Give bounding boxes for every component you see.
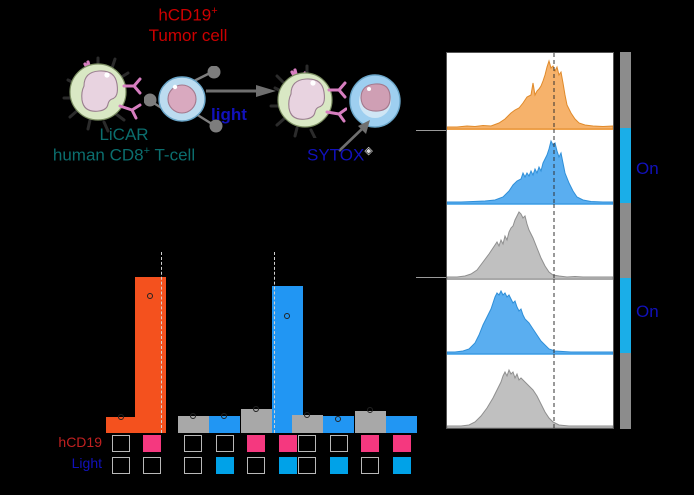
tumor-label-line1: hCD19 (158, 6, 211, 25)
connector-line-bottom (416, 277, 448, 278)
checkbox-light-2-4[interactable] (279, 457, 297, 474)
checkbox-light-1-1[interactable] (112, 457, 130, 474)
bar-3-3 (355, 411, 386, 433)
bar-chart (0, 248, 420, 433)
sytox-label: SYTOX◈ (307, 146, 373, 164)
checkbox-hcd19-3-1[interactable] (298, 435, 316, 452)
histogram-blue-4 (447, 279, 613, 354)
condition-matrix (0, 432, 420, 484)
on-label-1: On (636, 160, 659, 177)
on-segment-1 (620, 128, 631, 203)
checkbox-hcd19-2-1[interactable] (184, 435, 202, 452)
checkbox-light-3-4[interactable] (393, 457, 411, 474)
histogram-blue-2 (447, 129, 613, 204)
bar-2-4 (272, 286, 303, 433)
bar-2-4-marker (284, 313, 290, 319)
histogram-orange-1 (447, 53, 613, 129)
bar-3-4 (386, 416, 417, 433)
t-cell-after-icon (263, 58, 347, 138)
tumor-cell-label: hCD19+ Tumor cell (118, 6, 258, 44)
group-divider-1 (161, 252, 162, 433)
checkbox-hcd19-2-4[interactable] (279, 435, 297, 452)
bar-2-2-marker (221, 413, 227, 419)
bar-2-3 (241, 409, 272, 433)
t-cell-icon (54, 48, 154, 136)
bar-1-1-marker (118, 414, 124, 420)
bar-2-3-marker (253, 406, 259, 412)
group-divider-2 (274, 252, 275, 433)
figure-root: hCD19+ Tumor cell LiCAR human CD8+ T-cel… (0, 0, 694, 495)
bar-2-1-marker (190, 413, 196, 419)
licar-tcell-label: LiCAR human CD8+ T-cell (24, 126, 224, 164)
checkbox-hcd19-1-2[interactable] (143, 435, 161, 452)
bar-3-1-marker (304, 412, 310, 418)
checkbox-hcd19-3-2[interactable] (330, 435, 348, 452)
licar-label-line2b: T-cell (150, 146, 195, 165)
checkbox-light-3-2[interactable] (330, 457, 348, 474)
licar-label-line2a: human CD8 (53, 146, 144, 165)
on-label-2: On (636, 303, 659, 320)
flow-cytometry-panel (446, 52, 614, 429)
licar-label-line1: LiCAR (99, 125, 148, 144)
checkbox-light-2-3[interactable] (247, 457, 265, 474)
tumor-label-line2: Tumor cell (118, 27, 258, 44)
checkbox-light-2-2[interactable] (216, 457, 234, 474)
checkbox-light-1-2[interactable] (143, 457, 161, 474)
light-label: light (211, 106, 247, 123)
connector-line-top (416, 130, 448, 131)
tumor-label-sup: + (211, 5, 217, 17)
on-segment-2 (620, 278, 631, 353)
checkbox-hcd19-3-4[interactable] (393, 435, 411, 452)
checkbox-light-2-1[interactable] (184, 457, 202, 474)
bar-3-2-marker (335, 416, 341, 422)
histogram-gray-5 (447, 354, 613, 428)
checkbox-light-3-1[interactable] (298, 457, 316, 474)
flow-condition-sidebar (620, 52, 631, 429)
bar-3-3-marker (367, 407, 373, 413)
bar-1-2-marker (147, 293, 153, 299)
histogram-gray-3 (447, 204, 613, 279)
checkbox-hcd19-1-1[interactable] (112, 435, 130, 452)
checkbox-light-3-3[interactable] (361, 457, 379, 474)
checkbox-hcd19-2-3[interactable] (247, 435, 265, 452)
checkbox-hcd19-3-3[interactable] (361, 435, 379, 452)
checkbox-hcd19-2-2[interactable] (216, 435, 234, 452)
